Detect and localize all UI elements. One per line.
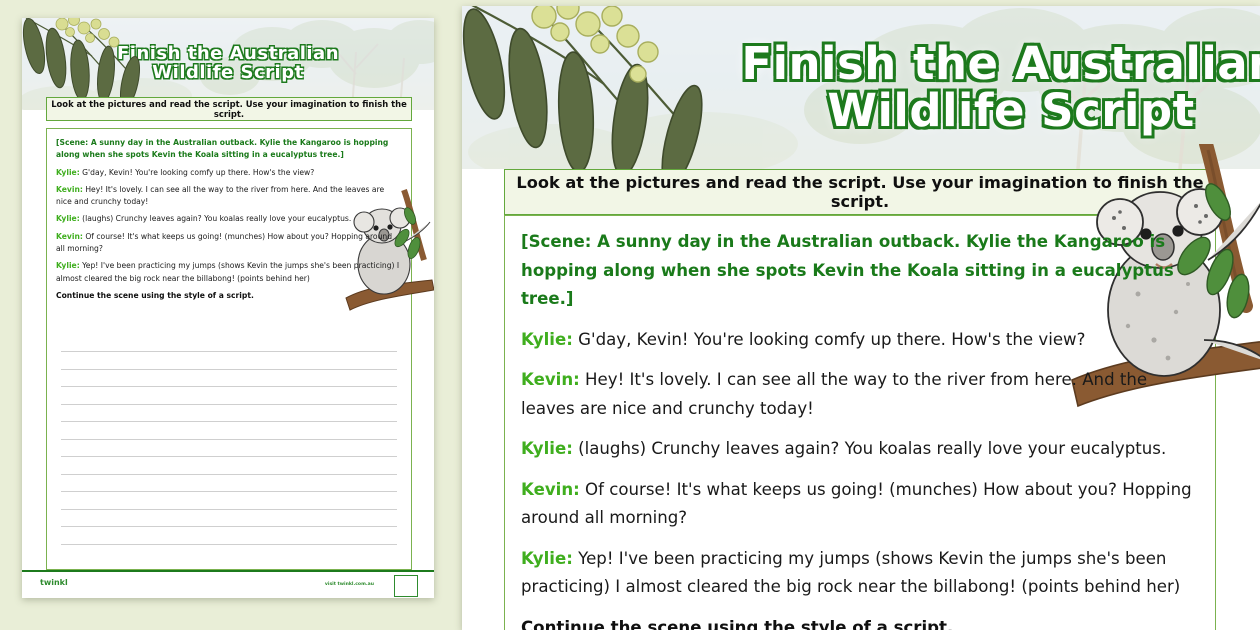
speaker-name: Kevin:: [56, 185, 83, 194]
script-line: Kylie: Yep! I've been practicing my jump…: [521, 545, 1199, 602]
speaker-dialogue: Of course! It's what keeps us going! (mu…: [521, 480, 1192, 528]
writing-line[interactable]: [61, 491, 397, 492]
writing-line[interactable]: [61, 544, 397, 545]
writing-line[interactable]: [61, 386, 397, 387]
footer-divider: [22, 570, 434, 572]
continue-prompt: Continue the scene using the style of a …: [56, 290, 402, 302]
preview-script-content: [Scene: A sunny day in the Australian ou…: [505, 216, 1215, 630]
twinkl-logo[interactable]: twinkl: [40, 578, 68, 587]
thumbnail-script-content: [Scene: A sunny day in the Australian ou…: [47, 129, 411, 302]
script-line: Kevin: Of course! It's what keeps us goi…: [521, 476, 1199, 533]
writing-line[interactable]: [61, 474, 397, 475]
speaker-dialogue: Yep! I've been practicing my jumps (show…: [521, 549, 1180, 597]
script-line: Kylie: Yep! I've been practicing my jump…: [56, 260, 402, 285]
script-line: Kevin: Hey! It's lovely. I can see all t…: [56, 184, 402, 209]
page-title-line-2: Wildlife Script: [152, 64, 303, 83]
instruction-text: Look at the pictures and read the script…: [47, 99, 411, 119]
continue-prompt: Continue the scene using the style of a …: [521, 614, 1199, 630]
speaker-dialogue: (laughs) Crunchy leaves again? You koala…: [80, 214, 352, 223]
speaker-dialogue: Hey! It's lovely. I can see all the way …: [521, 370, 1147, 418]
screenshot-stage: Finish the Australian Wildlife Script: [0, 0, 1260, 630]
writing-line[interactable]: [61, 369, 397, 370]
worksheet-preview-page[interactable]: Finish the Australian Wildlife Script: [462, 6, 1260, 630]
script-line: Kylie: (laughs) Crunchy leaves again? Yo…: [56, 213, 402, 225]
writing-line[interactable]: [61, 526, 397, 527]
writing-line[interactable]: [61, 351, 397, 352]
speaker-name: Kylie:: [521, 330, 573, 349]
script-line: Kylie: G'day, Kevin! You're looking comf…: [56, 167, 402, 179]
writing-line[interactable]: [61, 439, 397, 440]
speaker-name: Kevin:: [521, 370, 580, 389]
preview-header-banner: Finish the Australian Wildlife Script: [462, 6, 1260, 169]
worksheet-thumbnail-page[interactable]: Finish the Australian Wildlife Script: [22, 18, 434, 598]
speaker-name: Kylie:: [56, 261, 80, 270]
instruction-text: Look at the pictures and read the script…: [505, 173, 1215, 211]
speaker-name: Kevin:: [56, 232, 83, 241]
speaker-name: Kylie:: [521, 549, 573, 568]
speaker-dialogue: (laughs) Crunchy leaves again? You koala…: [573, 439, 1166, 458]
writing-line[interactable]: [61, 456, 397, 457]
speaker-dialogue: Of course! It's what keeps us going! (mu…: [56, 232, 392, 253]
speaker-name: Kevin:: [521, 480, 580, 499]
script-line: Kevin: Of course! It's what keeps us goi…: [56, 231, 402, 256]
page-title-line-2: Wildlife Script: [827, 88, 1194, 135]
scene-direction: [Scene: A sunny day in the Australian ou…: [56, 137, 402, 162]
preview-title-block: Finish the Australian Wildlife Script: [462, 6, 1260, 169]
footer-badge-icon: [394, 575, 418, 597]
preview-script-box: [Scene: A sunny day in the Australian ou…: [504, 215, 1216, 630]
writing-line[interactable]: [61, 509, 397, 510]
thumbnail-footer: twinkl visit twinkl.com.au: [22, 570, 434, 598]
speaker-dialogue: Yep! I've been practicing my jumps (show…: [56, 261, 399, 282]
thumbnail-instruction-box: Look at the pictures and read the script…: [46, 97, 412, 121]
speaker-name: Kylie:: [56, 214, 80, 223]
speaker-dialogue: G'day, Kevin! You're looking comfy up th…: [80, 168, 315, 177]
script-line: Kylie: (laughs) Crunchy leaves again? Yo…: [521, 435, 1199, 464]
speaker-name: Kylie:: [521, 439, 573, 458]
preview-instruction-box: Look at the pictures and read the script…: [504, 169, 1216, 215]
speaker-dialogue: G'day, Kevin! You're looking comfy up th…: [573, 330, 1086, 349]
script-line: Kevin: Hey! It's lovely. I can see all t…: [521, 366, 1199, 423]
speaker-dialogue: Hey! It's lovely. I can see all the way …: [56, 185, 384, 206]
footer-url[interactable]: visit twinkl.com.au: [325, 582, 374, 587]
script-line: Kylie: G'day, Kevin! You're looking comf…: [521, 326, 1199, 355]
speaker-name: Kylie:: [56, 168, 80, 177]
scene-direction: [Scene: A sunny day in the Australian ou…: [521, 228, 1199, 314]
writing-lines-area[interactable]: [61, 351, 397, 561]
page-title-line-1: Finish the Australian: [741, 41, 1260, 88]
writing-line[interactable]: [61, 404, 397, 405]
thumbnail-script-box: [Scene: A sunny day in the Australian ou…: [46, 128, 412, 570]
writing-line[interactable]: [61, 421, 397, 422]
